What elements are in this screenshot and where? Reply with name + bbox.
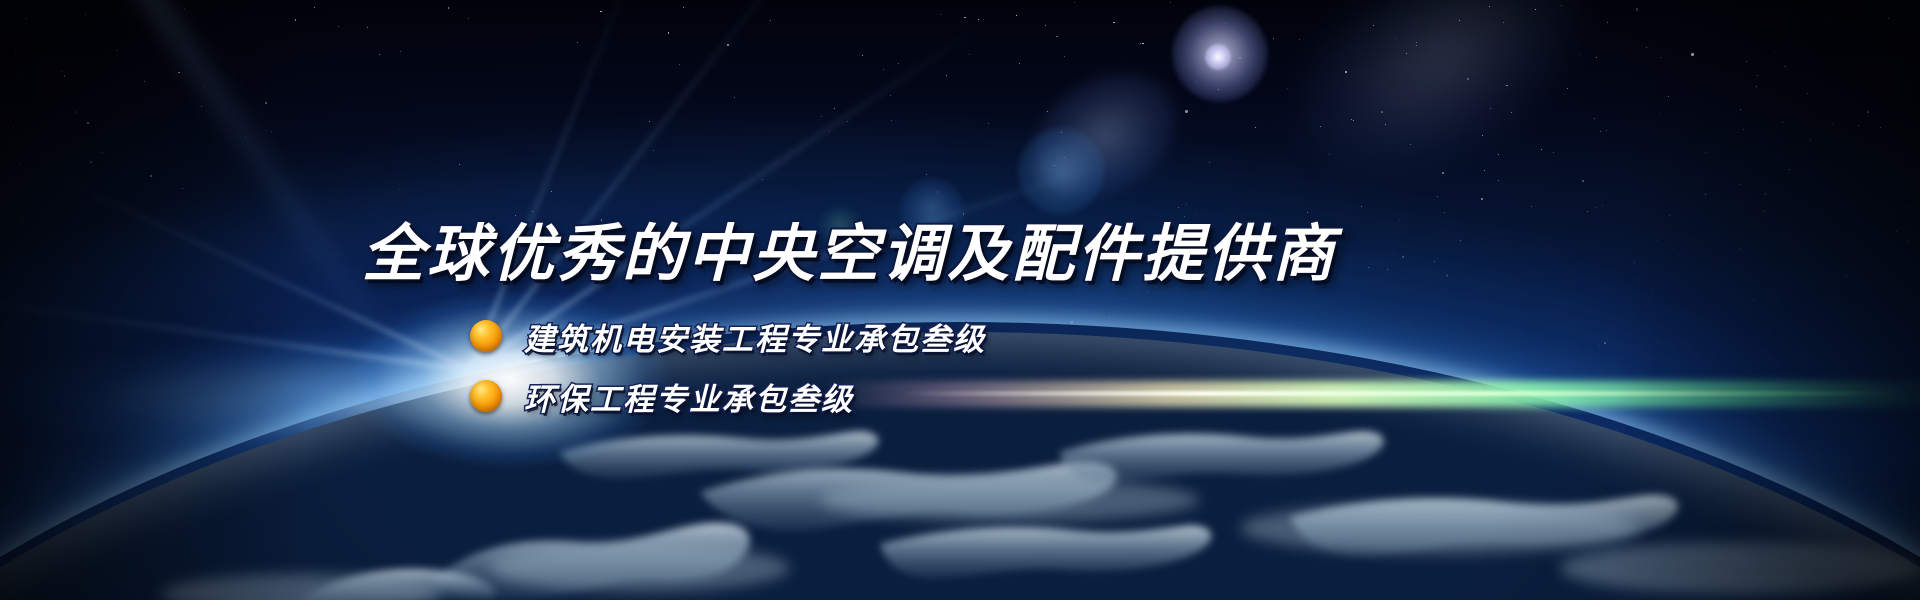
bullet-label: 环保工程专业承包叁级 <box>524 374 854 419</box>
banner-content: 全球优秀的中央空调及配件提供商 建筑机电安装工程专业承包叁级 环保工程专业承包叁… <box>0 0 1920 600</box>
list-item: 环保工程专业承包叁级 <box>470 368 986 424</box>
banner-headline: 全球优秀的中央空调及配件提供商 <box>362 203 1337 293</box>
list-item: 建筑机电安装工程专业承包叁级 <box>470 308 986 364</box>
banner-bullet-list: 建筑机电安装工程专业承包叁级 环保工程专业承包叁级 <box>470 308 986 428</box>
gold-dot-icon <box>470 380 502 412</box>
gold-dot-icon <box>470 320 502 352</box>
hero-banner: 全球优秀的中央空调及配件提供商 建筑机电安装工程专业承包叁级 环保工程专业承包叁… <box>0 0 1920 600</box>
bullet-label: 建筑机电安装工程专业承包叁级 <box>524 314 986 359</box>
